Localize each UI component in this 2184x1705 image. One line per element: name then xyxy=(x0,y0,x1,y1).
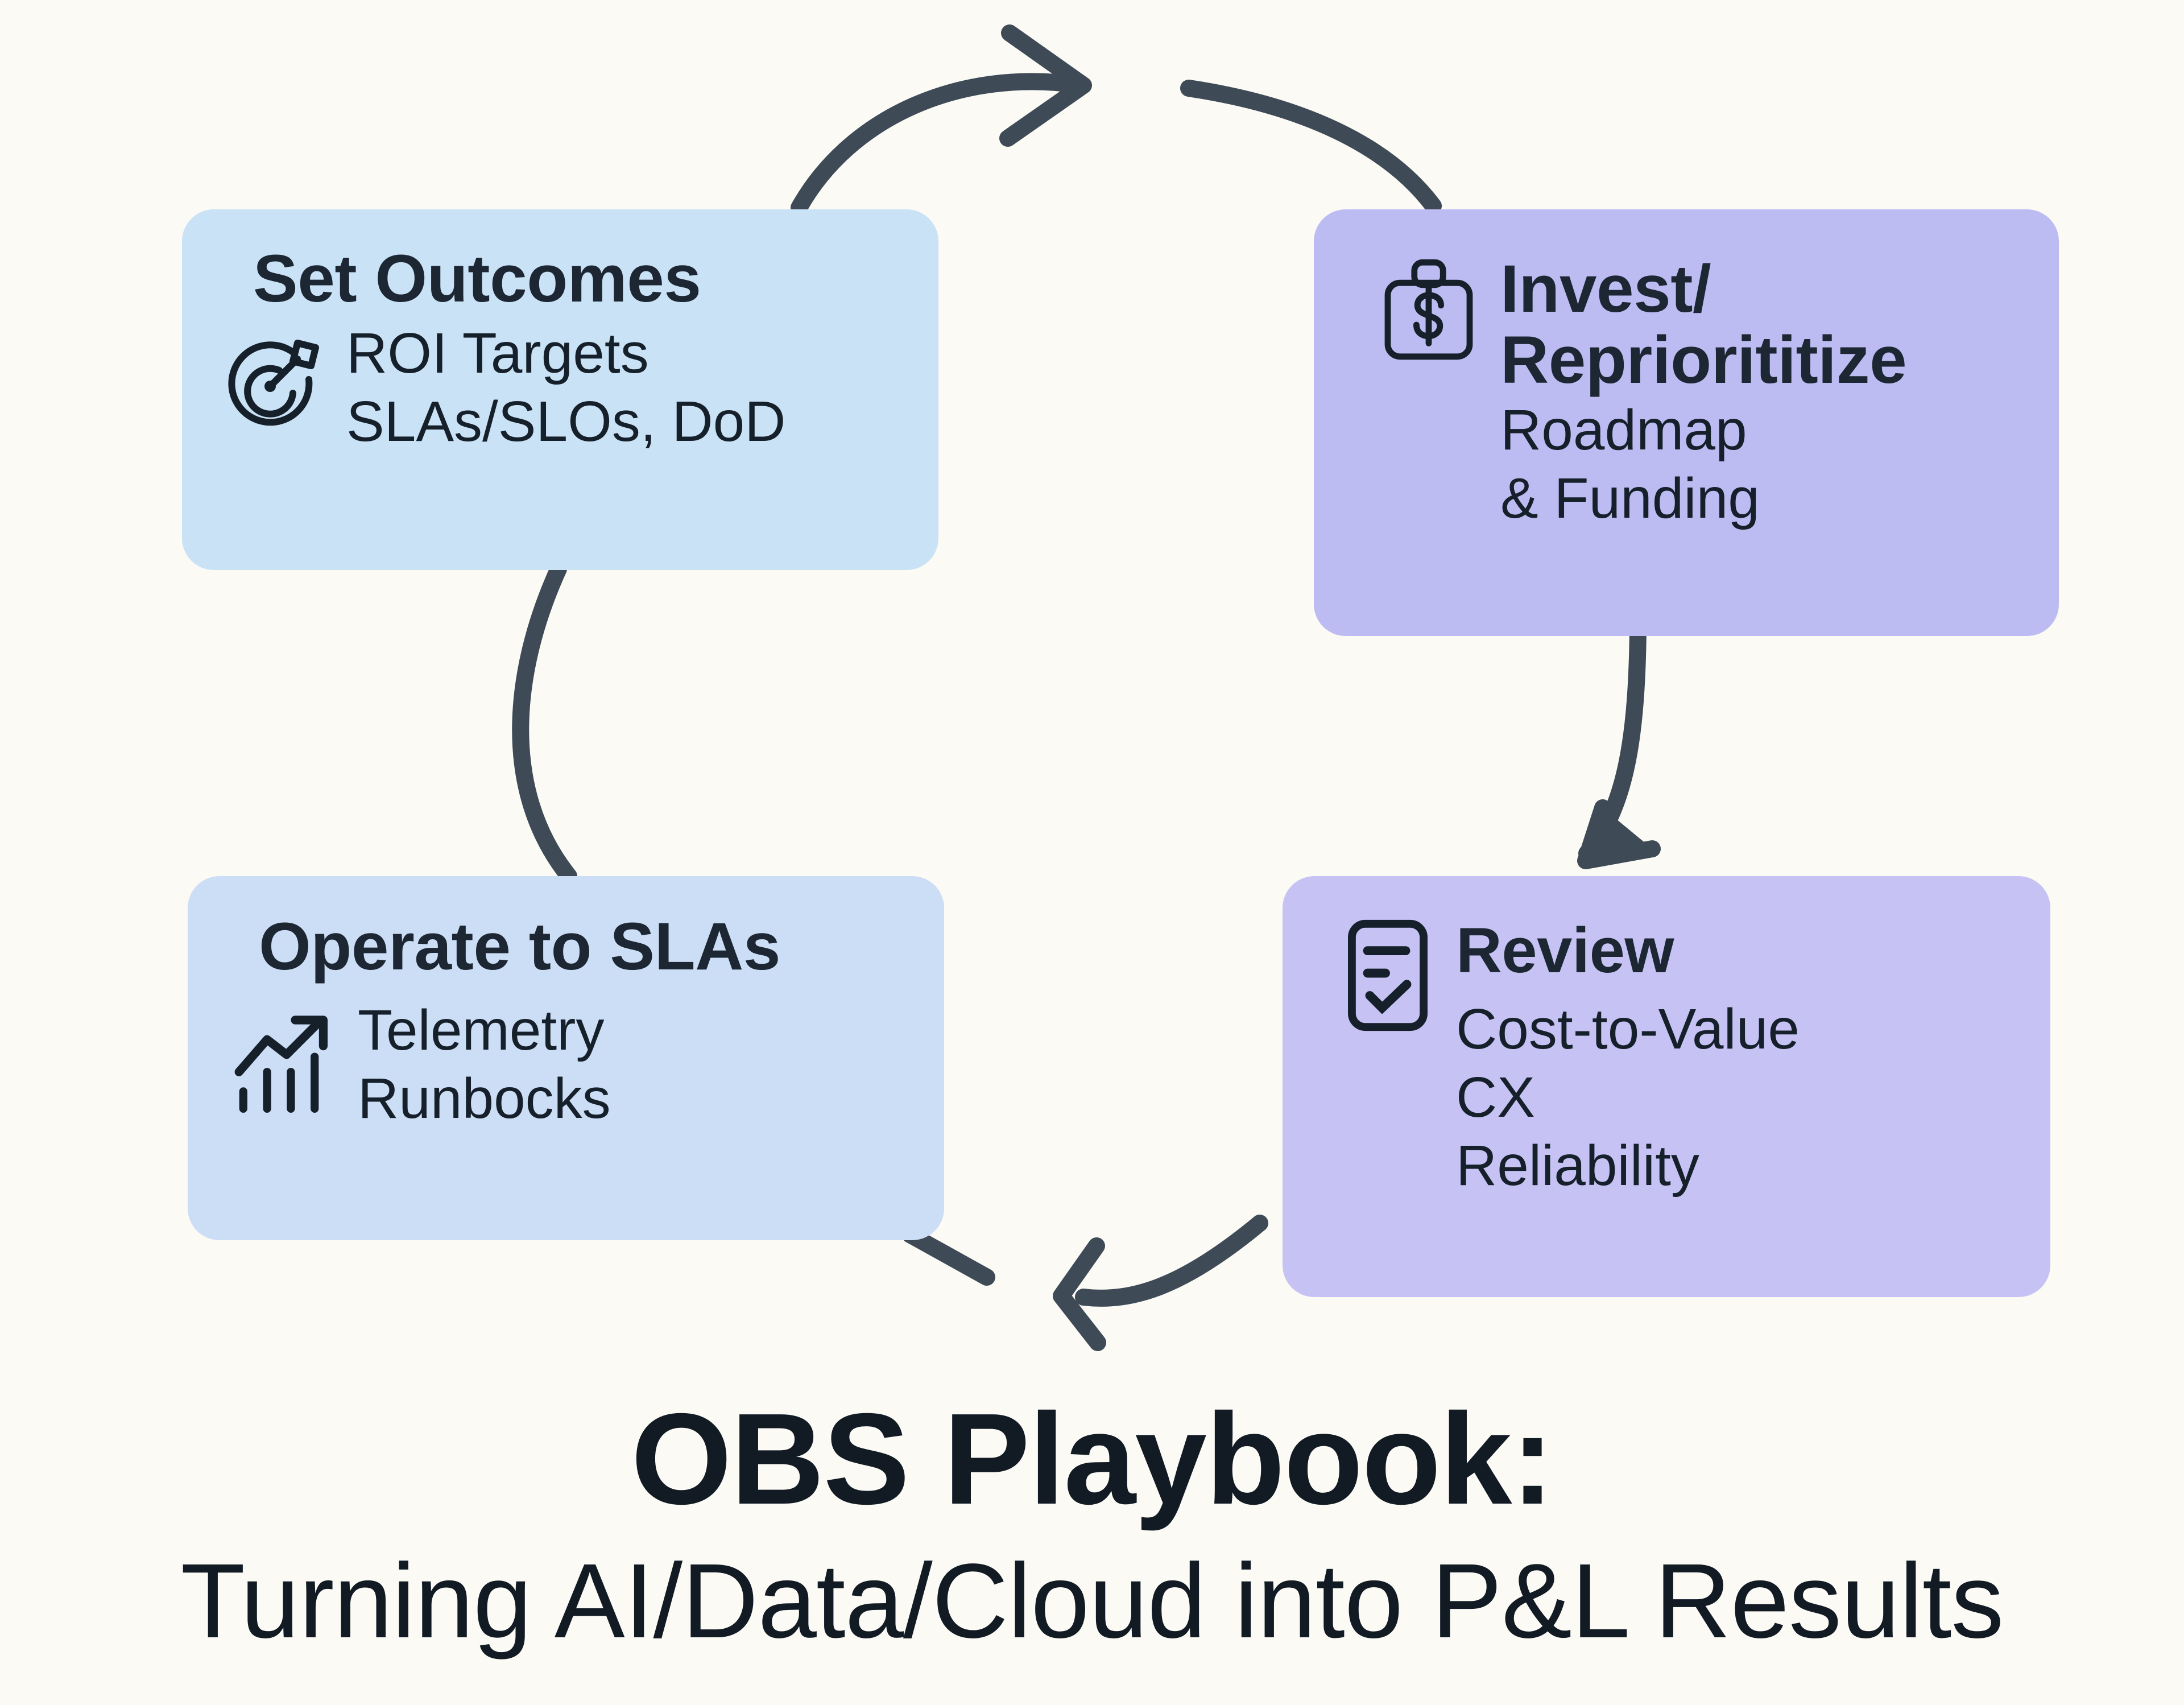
node-invest-lines: Roadmap & Funding xyxy=(1500,396,1906,532)
node-review-lines: Cost-to-Value CX Reliability xyxy=(1456,995,1800,1200)
node-review-line-1: Cost-to-Value xyxy=(1456,995,1800,1063)
node-review-line-2: CX xyxy=(1456,1063,1800,1132)
node-invest-title-line-2: Repriorititize xyxy=(1500,325,1906,396)
node-operate-line-2: Runbocks xyxy=(358,1064,611,1133)
clipboard-check-icon xyxy=(1342,917,1433,1037)
node-set-outcomes-line-2: SLAs/SLOs, DoD xyxy=(346,387,786,456)
connector-operate-to-set-outcomes xyxy=(520,569,569,876)
node-operate-line-1: Telemetry xyxy=(358,996,611,1064)
node-invest-line-1: Roadmap xyxy=(1500,396,1906,464)
node-set-outcomes-lines: ROI Targets SLAs/SLOs, DoD xyxy=(346,319,786,456)
caption-subtitle: Turning AI/Data/Cloud into P&L Results xyxy=(0,1539,2184,1663)
node-invest-line-2: & Funding xyxy=(1500,464,1906,532)
caption-block: OBS Playbook: Turning AI/Data/Cloud into… xyxy=(0,1388,2184,1663)
caption-title: OBS Playbook: xyxy=(0,1388,2184,1531)
target-icon xyxy=(213,329,327,446)
connector-review-to-operate xyxy=(910,1223,1260,1343)
node-review-title: Review xyxy=(1456,917,1800,985)
briefcase-dollar-icon xyxy=(1378,254,1480,368)
arrowhead-right-icon xyxy=(1008,33,1083,138)
node-operate-lines: Telemetry Runbocks xyxy=(358,996,611,1133)
node-invest-title-line-1: Invest/ xyxy=(1500,254,1906,325)
arrowhead-down-icon xyxy=(1586,808,1652,861)
arrowhead-left-icon xyxy=(1061,1246,1098,1343)
node-invest-reprioritize[interactable]: Invest/ Repriorititize Roadmap & Funding xyxy=(1314,209,2059,636)
node-review[interactable]: Review Cost-to-Value CX Reliability xyxy=(1283,876,2050,1297)
node-operate-title: Operate to SLAs xyxy=(259,911,904,982)
node-invest-title: Invest/ Repriorititize xyxy=(1500,254,1906,396)
node-review-line-3: Reliability xyxy=(1456,1132,1800,1200)
connector-invest-to-review xyxy=(1586,629,1652,861)
node-set-outcomes-title: Set Outcomes xyxy=(253,243,899,315)
node-operate-to-slas[interactable]: Operate to SLAs Teleme xyxy=(188,876,944,1240)
connector-set-outcomes-to-invest xyxy=(799,33,1433,208)
node-set-outcomes[interactable]: Set Outcomes ROI Targets SL xyxy=(182,209,938,570)
node-set-outcomes-line-1: ROI Targets xyxy=(346,319,786,387)
diagram-canvas: Set Outcomes ROI Targets SL xyxy=(0,0,2184,1705)
bar-chart-trend-icon xyxy=(230,1009,338,1120)
